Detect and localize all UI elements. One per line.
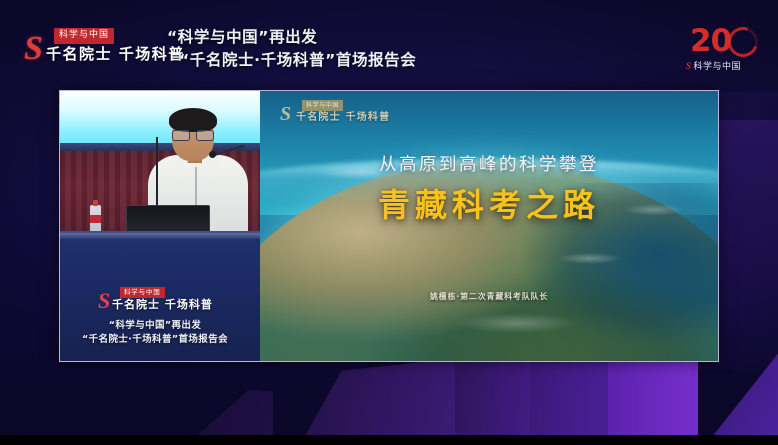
brand-logo-tag: 科学与中国 [54, 28, 114, 44]
slide-speaker-credit: 姚檀栋·第二次青藏科考队队长 [260, 291, 718, 303]
broadcast-screen: S 科学与中国 千名院士 千场科普 “科学与中国”再出发 “千名院士·千场科普”… [0, 0, 778, 445]
podium-logo-main: 千名院士 千场科普 [112, 298, 213, 312]
presentation-slide[interactable]: S 科学与中国 千名院士 千场科普 从高原到高峰的科学攀登 青藏科考之路 姚檀栋… [260, 91, 718, 361]
anniversary-logo: 20 S科学与中国 [684, 24, 762, 78]
slide-subtitle: 从高原到高峰的科学攀登 [260, 153, 718, 177]
content-panel: S 科学与中国 千名院士 千场科普 “科学与中国”再出发 “千名院士·千场科普”… [59, 90, 719, 362]
anniversary-swoosh-icon: S [686, 61, 692, 71]
header-title-line1: “科学与中国”再出发 [167, 26, 416, 49]
slide-watermark-main: 千名院士 千场科普 [296, 111, 390, 124]
slide-watermark-logo: S 科学与中国 千名院士 千场科普 [280, 101, 400, 133]
bottom-letterbox [0, 435, 778, 445]
podium-edge [60, 233, 260, 239]
podium-board-line2: “千名院士·千场科普”首场报告会 [62, 333, 248, 347]
podium: S 科学与中国 千名院士 千场科普 “科学与中国”再出发 “千名院士·千场科普”… [60, 231, 260, 361]
brand-logo: S 科学与中国 千名院士 千场科普 [24, 28, 146, 72]
podium-board-logo: S 科学与中国 千名院士 千场科普 [62, 288, 248, 314]
water-bottle-icon [90, 205, 101, 233]
slide-watermark-swoosh-icon: S [280, 104, 291, 124]
anniversary-subtitle: S科学与中国 [686, 60, 741, 73]
header-title: “科学与中国”再出发 “千名院士·千场科普”首场报告会 [167, 26, 416, 72]
slide-watermark-tag: 科学与中国 [302, 100, 343, 111]
brand-logo-main: 千名院士 千场科普 [46, 45, 185, 63]
slide-title: 青藏科考之路 [260, 185, 718, 225]
microphone-stand [156, 137, 158, 205]
speaker-hair [169, 108, 217, 132]
anniversary-subtitle-text: 科学与中国 [694, 62, 742, 72]
speaker-camera-feed[interactable]: S 科学与中国 千名院士 千场科普 “科学与中国”再出发 “千名院士·千场科普”… [60, 91, 260, 361]
podium-logo-tag: 科学与中国 [120, 287, 165, 298]
microphone-boom [212, 145, 245, 157]
header-title-line2: “千名院士·千场科普”首场报告会 [167, 49, 416, 72]
podium-board-line1: “科学与中国”再出发 [62, 319, 248, 333]
microphone-icon [209, 151, 216, 158]
slide-title-group: 从高原到高峰的科学攀登 青藏科考之路 [260, 153, 718, 225]
podium-swoosh-icon: S [98, 290, 110, 312]
glasses-icon [172, 130, 214, 139]
podium-board: S 科学与中国 千名院士 千场科普 “科学与中国”再出发 “千名院士·千场科普”… [62, 288, 248, 347]
header-bar: S 科学与中国 千名院士 千场科普 “科学与中国”再出发 “千名院士·千场科普”… [0, 0, 778, 90]
anniversary-number: 20 [690, 24, 731, 58]
